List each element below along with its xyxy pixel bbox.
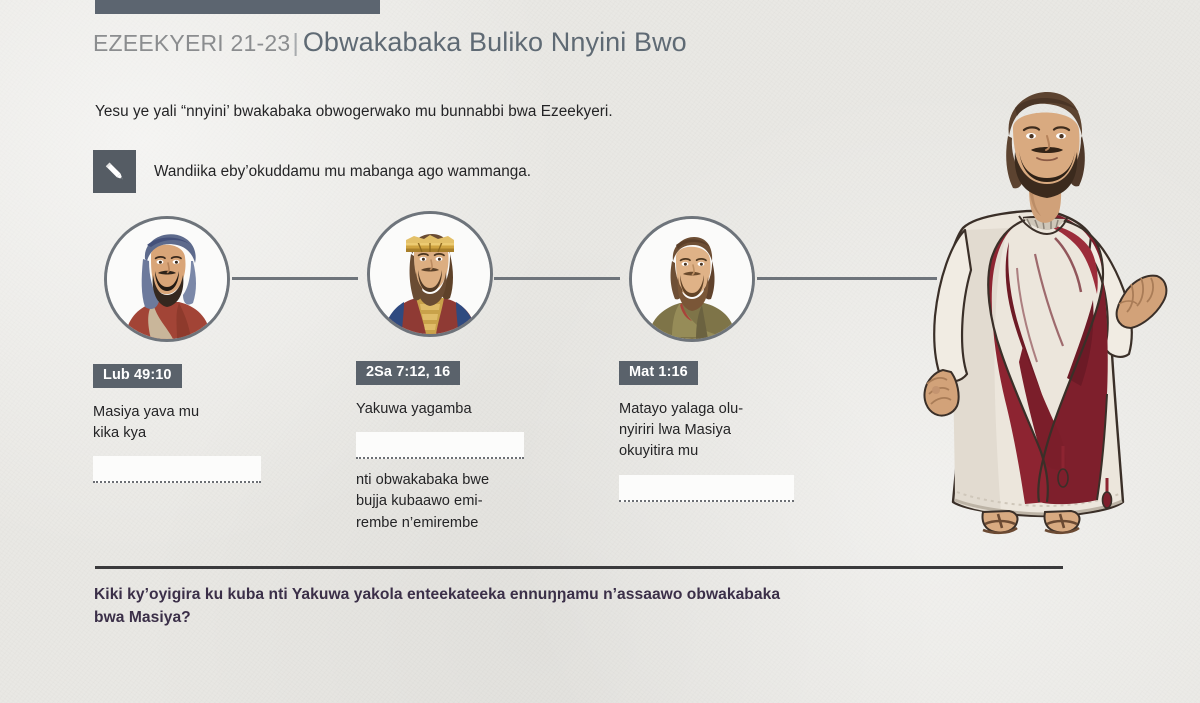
caption-text-2-before: Yakuwa yagamba: [356, 399, 536, 420]
timeline-connector-1: [232, 277, 358, 280]
answer-blank-3[interactable]: [619, 475, 794, 502]
judah-portrait: [104, 216, 230, 342]
joseph-portrait: [629, 216, 755, 342]
answer-blank-1[interactable]: [93, 456, 261, 483]
pencil-icon: [93, 150, 136, 193]
lesson-title: Obwakabaka Buliko Nnyini Bwo: [303, 27, 687, 57]
scripture-reference: EZEEKYERI 21-23: [93, 30, 290, 56]
caption-text-2-after: nti obwakabaka bwe bujja kubaawo emi- re…: [356, 470, 536, 534]
instruction-row: Wandiika eby’okuddamu mu mabanga ago wam…: [93, 150, 531, 193]
section-divider: [95, 566, 1063, 569]
lesson-page: EZEEKYERI 21-23|Obwakabaka Buliko Nnyini…: [0, 0, 1200, 703]
top-accent-bar: [95, 0, 380, 14]
timeline-caption-2: 2Sa 7:12, 16 Yakuwa yagamba nti obwakaba…: [356, 361, 536, 534]
answer-blank-2[interactable]: [356, 432, 524, 459]
timeline-caption-3: Mat 1:16 Matayo yalaga olu- nyiriri lwa …: [619, 361, 799, 502]
title-separator: |: [292, 29, 299, 57]
ref-badge-2: 2Sa 7:12, 16: [356, 361, 460, 385]
page-title: EZEEKYERI 21-23|Obwakabaka Buliko Nnyini…: [93, 27, 687, 58]
timeline-caption-1: Lub 49:10 Masiya yava mu kika kya: [93, 364, 273, 483]
king-david-portrait: [367, 211, 493, 337]
caption-text-3: Matayo yalaga olu- nyiriri lwa Masiya ok…: [619, 399, 799, 463]
instruction-text: Wandiika eby’okuddamu mu mabanga ago wam…: [154, 163, 531, 181]
ref-badge-1: Lub 49:10: [93, 364, 182, 388]
ref-badge-3: Mat 1:16: [619, 361, 698, 385]
review-question: Kiki ky’oyigira ku kuba nti Yakuwa yakol…: [94, 583, 794, 629]
jesus-christ-figure: [905, 78, 1185, 540]
caption-text-1: Masiya yava mu kika kya: [93, 402, 273, 445]
intro-paragraph: Yesu ye yali “nnyini’ bwakabaka obwogerw…: [95, 103, 613, 121]
timeline-connector-2: [494, 277, 620, 280]
